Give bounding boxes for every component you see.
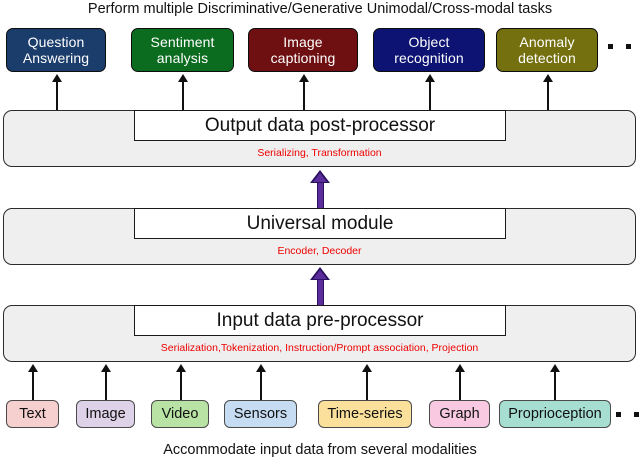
arrow-head-icon (178, 74, 188, 82)
arrow-head-icon (101, 364, 111, 372)
arrow-head-icon (28, 364, 38, 372)
top-caption: Perform multiple Discriminative/Generati… (0, 1, 640, 18)
arrow-shaft (32, 370, 34, 400)
post-processor-to-task-arrow (176, 74, 189, 110)
modality-box-sensors[interactable]: Sensors (224, 400, 297, 428)
arrow-head-icon (550, 364, 560, 372)
post-processor-to-task-arrow (423, 74, 436, 110)
arrow-shaft (56, 80, 58, 110)
arrow-head-icon (176, 364, 186, 372)
panel-universal: Universal moduleEncoder, Decoder (3, 208, 636, 265)
arrow-shaft (317, 179, 324, 208)
input-to-universal-arrow (310, 267, 331, 305)
arrow-head-icon (256, 364, 266, 372)
modality-to-preprocessor-arrow (26, 364, 39, 400)
task-label-line2: analysis (157, 50, 208, 66)
panel-subtitle-universal: Encoder, Decoder (4, 245, 635, 257)
task-label-line1: Object (408, 34, 449, 50)
arrow-shaft (547, 80, 549, 110)
universal-to-output-arrow (310, 170, 331, 208)
modality-box-video[interactable]: Video (151, 400, 209, 428)
panel-subtitle-input: Serialization,Tokenization, Instruction/… (4, 342, 635, 354)
arrow-head-fill (313, 270, 327, 279)
arrow-shaft (429, 80, 431, 110)
task-label-line2: recognition (394, 50, 464, 66)
arrow-shaft (182, 80, 184, 110)
panel-title-input: Input data pre-processor (134, 305, 506, 336)
task-label-line2: captioning (271, 50, 336, 66)
arrow-shaft (105, 370, 107, 400)
task-label-line1: Sentiment (151, 34, 215, 50)
ellipsis-dot (634, 412, 639, 417)
panel-title-output: Output data post-processor (134, 110, 506, 141)
modality-to-preprocessor-arrow (99, 364, 112, 400)
arrow-shaft (366, 370, 368, 400)
modality-to-preprocessor-arrow (453, 364, 466, 400)
arrow-head-fill (313, 173, 327, 182)
arrow-head-icon (362, 364, 372, 372)
arrow-shaft (303, 80, 305, 110)
panel-subtitle-output: Serializing, Transformation (4, 147, 635, 159)
task-box-image[interactable]: Imagecaptioning (248, 28, 358, 72)
ellipsis-dot (626, 44, 631, 49)
task-box-question[interactable]: QuestionAnswering (6, 28, 106, 72)
arrow-head-icon (455, 364, 465, 372)
modality-box-time-series[interactable]: Time-series (318, 400, 412, 428)
arrow-head-icon (299, 74, 309, 82)
arrow-shaft (317, 276, 324, 305)
arrow-head-icon (425, 74, 435, 82)
panel-title-universal: Universal module (134, 208, 506, 239)
modality-to-preprocessor-arrow (360, 364, 373, 400)
modality-box-text[interactable]: Text (6, 400, 59, 428)
arrow-head-icon (543, 74, 553, 82)
ellipsis-dot (608, 44, 613, 49)
task-label-line1: Anomaly (519, 34, 574, 50)
task-box-sentiment[interactable]: Sentimentanalysis (131, 28, 234, 72)
bottom-caption: Accommodate input data from several moda… (0, 442, 640, 459)
modality-box-graph[interactable]: Graph (429, 400, 490, 428)
post-processor-to-task-arrow (297, 74, 310, 110)
arrow-head-icon (52, 74, 62, 82)
modality-to-preprocessor-arrow (254, 364, 267, 400)
arrow-shaft (459, 370, 461, 400)
task-box-object[interactable]: Objectrecognition (373, 28, 485, 72)
task-label-line1: Question (28, 34, 85, 50)
modality-box-image[interactable]: Image (76, 400, 135, 428)
arrow-shaft (554, 370, 556, 400)
task-label-line1: Image (283, 34, 322, 50)
task-row-ellipsis (608, 44, 631, 49)
post-processor-to-task-arrow (50, 74, 63, 110)
ellipsis-dot (616, 412, 621, 417)
modality-box-proprioception[interactable]: Proprioception (499, 400, 611, 428)
arrow-shaft (260, 370, 262, 400)
post-processor-to-task-arrow (541, 74, 554, 110)
task-label-line2: detection (518, 50, 576, 66)
modality-row-ellipsis (616, 412, 639, 417)
panel-input: Input data pre-processorSerialization,To… (3, 305, 636, 362)
modality-to-preprocessor-arrow (174, 364, 187, 400)
modality-to-preprocessor-arrow (548, 364, 561, 400)
task-box-anomaly[interactable]: Anomalydetection (496, 28, 598, 72)
panel-output: Output data post-processorSerializing, T… (3, 110, 636, 167)
diagram-canvas: Perform multiple Discriminative/Generati… (0, 0, 640, 464)
task-label-line2: Answering (23, 50, 89, 66)
arrow-shaft (180, 370, 182, 400)
